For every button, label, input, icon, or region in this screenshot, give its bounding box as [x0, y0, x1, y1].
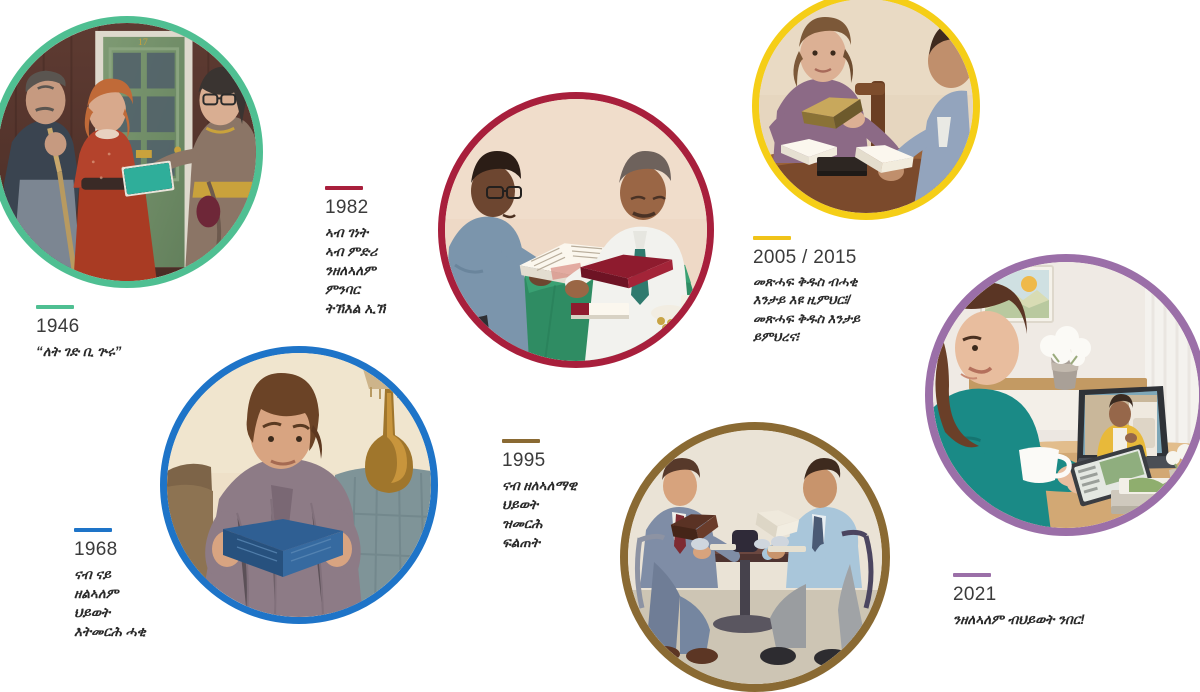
caption-2005-2015: 2005 / 2015 መጽሓፍ ቅዱስ ብሓቂ እንታይ እዩ ዚምህር፧/ … [753, 236, 963, 347]
caption-rule-1995 [502, 439, 540, 443]
caption-title-1946: “ለት ገድ ቢ ጕሩ” [36, 342, 236, 361]
scene-video-call-study [933, 262, 1199, 528]
caption-title-2005-2015: መጽሓፍ ቅዱስ ብሓቂ እንታይ እዩ ዚምህር፧/ መጽሓፍ ቅዱስ እንታ… [753, 273, 963, 347]
caption-rule-1946 [36, 305, 74, 309]
medallion-2021[interactable] [925, 254, 1200, 536]
scene-door-to-door-1940s: 17 [0, 23, 256, 281]
caption-2021: 2021 ንዘለኣለም ብህይወት ንበር! [953, 573, 1183, 629]
caption-rule-1968 [74, 528, 112, 532]
caption-1995: 1995 ናብ ዘለኣለማዊ ህይወት ዝመርሕ ፍልጠት [502, 439, 662, 552]
caption-1946: 1946 “ለት ገድ ቢ ጕሩ” [36, 305, 236, 361]
medallion-2005-2015[interactable] [752, 0, 980, 220]
caption-year-1995: 1995 [502, 450, 662, 472]
scene-two-men-cafe-table [628, 430, 882, 684]
caption-year-1946: 1946 [36, 316, 236, 338]
scene-woman-teaching-bible [759, 0, 973, 213]
caption-rule-2005-2015 [753, 236, 791, 240]
caption-title-2021: ንዘለኣለም ብህይወት ንበር! [953, 610, 1183, 629]
caption-title-1995: ናብ ዘለኣለማዊ ህይወት ዝመርሕ ፍልጠት [502, 476, 662, 553]
caption-rule-2021 [953, 573, 991, 577]
svg-text:17: 17 [138, 37, 148, 48]
caption-1968: 1968 ናብ ናይ ዘልኣለም ህይወት እትመርሕ ሓቂ [74, 528, 224, 641]
timeline-canvas: 17 [0, 0, 1200, 675]
caption-title-1982: ኣብ ገነት ኣብ ምድሪ ንዘለኣለም ምንባር ትኽእል ኢኽ [325, 223, 475, 319]
scene-bible-study-green-table [445, 99, 707, 361]
caption-year-1968: 1968 [74, 539, 224, 561]
medallion-1946[interactable]: 17 [0, 16, 263, 288]
caption-rule-1982 [325, 186, 363, 190]
caption-year-2005-2015: 2005 / 2015 [753, 247, 963, 269]
caption-title-1968: ናብ ናይ ዘልኣለም ህይወት እትመርሕ ሓቂ [74, 565, 224, 642]
medallion-1982[interactable] [438, 92, 714, 368]
caption-year-1982: 1982 [325, 197, 475, 219]
caption-year-2021: 2021 [953, 584, 1183, 606]
caption-1982: 1982 ኣብ ገነት ኣብ ምድሪ ንዘለኣለም ምንባር ትኽእል ኢኽ [325, 186, 475, 319]
